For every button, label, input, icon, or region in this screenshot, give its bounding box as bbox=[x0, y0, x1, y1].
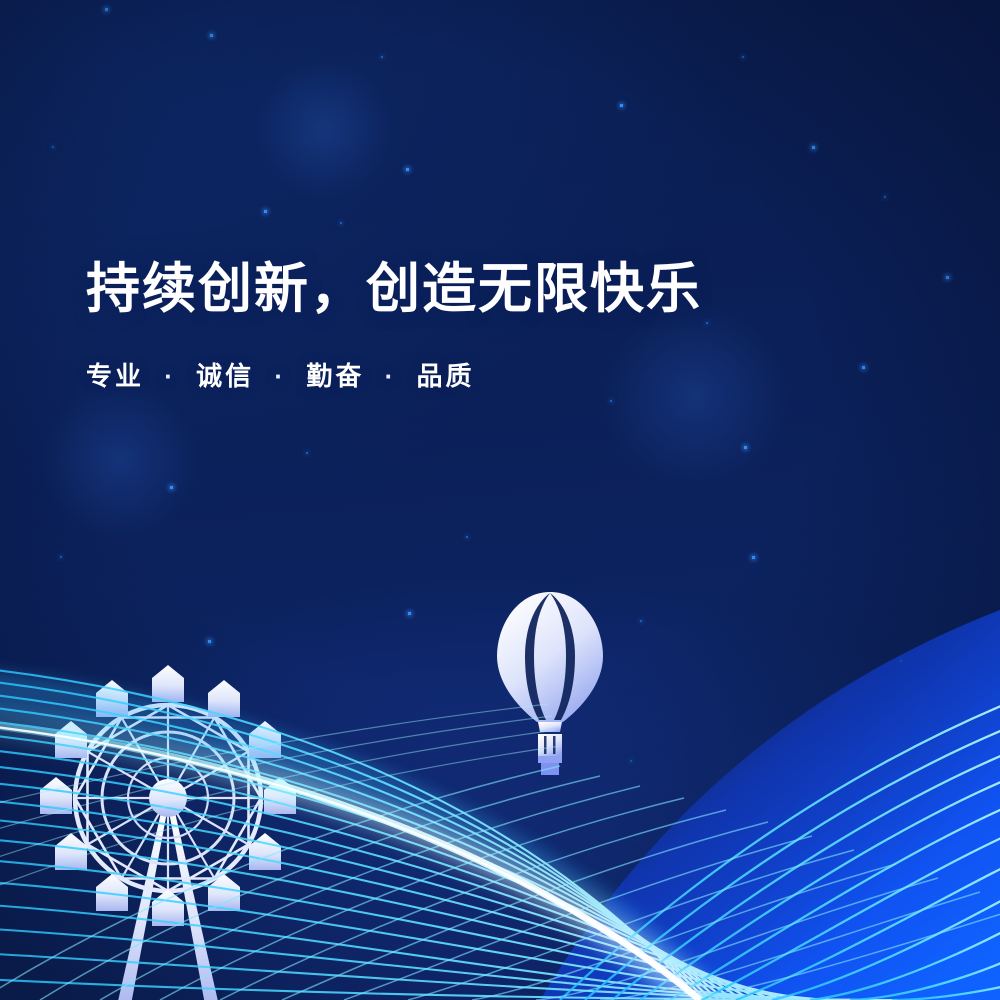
subtitle-item-1: 诚信 bbox=[196, 361, 254, 391]
nebula-glow-c bbox=[40, 380, 200, 540]
star-dot bbox=[105, 8, 108, 11]
star-dot bbox=[946, 276, 949, 279]
subtitle-separator-2: · bbox=[375, 361, 407, 392]
star-dot bbox=[744, 446, 747, 449]
star-dot bbox=[610, 400, 612, 402]
star-dot bbox=[340, 222, 342, 224]
star-dot bbox=[406, 168, 409, 171]
subtitle-separator-1: · bbox=[264, 361, 296, 392]
star-dot bbox=[706, 322, 708, 324]
subtitle-values: 专业 · 诚信 · 勤奋 · 品质 bbox=[86, 356, 702, 393]
star-dot bbox=[381, 56, 383, 58]
subtitle-separator-0: · bbox=[154, 361, 186, 392]
subtitle-item-0: 专业 bbox=[86, 361, 144, 391]
nebula-glow-a bbox=[255, 60, 395, 200]
promo-poster: 持续创新，创造无限快乐 专业 · 诚信 · 勤奋 · 品质 bbox=[0, 0, 1000, 1000]
star-dot bbox=[742, 56, 744, 58]
amusement-park-scene bbox=[0, 580, 1000, 1000]
star-dot bbox=[52, 146, 54, 148]
page-title: 持续创新，创造无限快乐 bbox=[86, 258, 702, 320]
star-dot bbox=[884, 196, 886, 198]
subtitle-item-2: 勤奋 bbox=[306, 361, 364, 391]
star-dot bbox=[466, 536, 468, 538]
copy-block: 持续创新，创造无限快乐 专业 · 诚信 · 勤奋 · 品质 bbox=[86, 258, 702, 393]
star-dot bbox=[210, 34, 213, 37]
star-dot bbox=[752, 556, 755, 559]
star-dot bbox=[812, 146, 815, 149]
ferris-wheel-icon bbox=[40, 665, 296, 1000]
star-dot bbox=[170, 486, 173, 489]
star-dot bbox=[306, 452, 308, 454]
hot-air-balloon-icon bbox=[497, 592, 603, 775]
star-dot bbox=[862, 366, 865, 369]
star-dot bbox=[60, 556, 62, 558]
star-dot bbox=[264, 210, 267, 213]
star-dot bbox=[620, 104, 623, 107]
subtitle-item-3: 品质 bbox=[416, 361, 474, 391]
